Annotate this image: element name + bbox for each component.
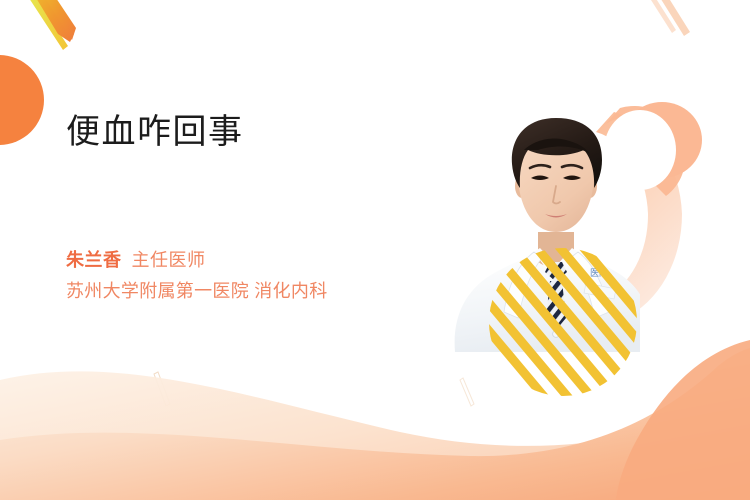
doctor-professional-title: 主任医师: [132, 250, 206, 270]
doctor-affiliation: 苏州大学附属第一医院 消化内科: [66, 279, 466, 303]
page-title: 便血咋回事: [66, 112, 446, 152]
salmon-lobe-right: [616, 340, 750, 500]
doctor-credit-block: 朱兰香主任医师 苏州大学附属第一医院 消化内科: [66, 248, 466, 303]
doctor-name: 朱兰香: [66, 250, 122, 270]
doctor-identity-line: 朱兰香主任医师: [66, 248, 466, 273]
title-block: 便血咋回事: [66, 112, 446, 152]
hairline-stroke-mid-icon: [460, 378, 474, 406]
doctor-intro-card: 医院: [0, 0, 750, 500]
